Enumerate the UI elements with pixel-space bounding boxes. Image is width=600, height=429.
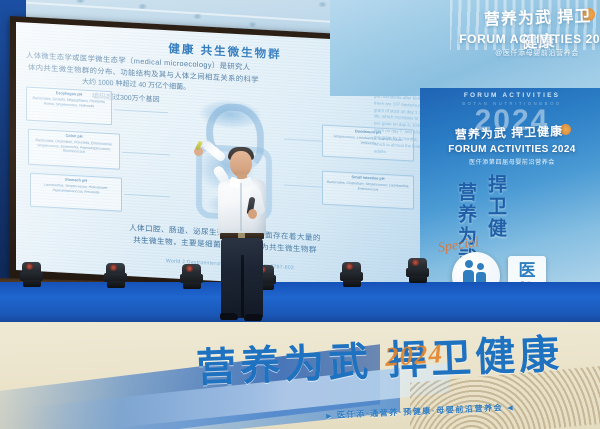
top-banner-english-title: FORUM ACTIVITIES 2024	[452, 32, 600, 46]
top-banner-subtitle: @医仟添母婴前沿营养会	[462, 48, 600, 58]
light-base	[23, 280, 41, 287]
right-banner-top-english: FORUM ACTIVITIES	[438, 92, 586, 99]
light-lens-icon	[26, 263, 33, 270]
speaker-presenter	[196, 143, 292, 321]
light-lens-icon	[346, 263, 353, 270]
light-base	[409, 276, 427, 283]
light-base	[343, 280, 361, 287]
moving-head-light	[340, 262, 364, 288]
moving-head-light	[104, 263, 128, 289]
moving-head-light	[406, 258, 430, 284]
logo-badge-char: 医	[519, 261, 536, 280]
arrow-right-icon: ◀	[507, 404, 514, 412]
logo-head-parent	[465, 260, 473, 268]
diagram-connector	[124, 194, 170, 197]
moving-head-light	[20, 262, 44, 288]
speaker-raised-arm	[201, 139, 227, 163]
diagram-connector	[284, 139, 322, 142]
speaker-shoe-left	[220, 313, 238, 320]
stage-floor	[0, 282, 600, 326]
arrow-left-icon: ▶	[326, 412, 333, 420]
diagram-connector	[122, 152, 170, 156]
right-banner-english-title: FORUM ACTIVITIES 2024	[434, 144, 590, 155]
downlight-icon	[318, 2, 327, 7]
light-lens-icon	[412, 259, 419, 266]
conference-stage-photo: 健康 共生微生物群 人体微生态学或医学微生态学（medical microeco…	[0, 0, 600, 429]
downlight-icon	[138, 4, 147, 9]
downlight-icon	[76, 0, 85, 3]
logo-head-child	[477, 263, 484, 270]
light-lens-icon	[186, 265, 193, 272]
speaker-mic-hand	[248, 209, 257, 219]
top-banner-chinese-title: 营养为武 捍卫健康	[477, 2, 599, 54]
top-banner: 营养为武 捍卫健康 FORUM ACTIVITIES 2024 @医仟添母婴前沿…	[330, 0, 600, 96]
bottom-banner-year: 2024	[384, 338, 444, 373]
downlight-icon	[248, 22, 257, 27]
diagram-box: Stomach pH Lactobacillus, Streptococcus,…	[30, 173, 122, 212]
right-banner-subtitle: 医仟添第四届母婴前沿营养会	[438, 157, 586, 166]
speaker-leg-separation	[241, 255, 244, 317]
light-base	[107, 281, 125, 288]
speaker-shirt-placket	[240, 183, 242, 231]
diagram-box: Colon pH Bacteroides, Clostridium, Prevo…	[28, 129, 120, 170]
speaker-shoe-right	[244, 314, 262, 321]
right-banner-chinese-title: 营养为武 捍卫健康	[448, 122, 571, 143]
light-lens-icon	[110, 264, 117, 271]
diagram-connector	[114, 109, 168, 113]
downlight-icon	[193, 14, 202, 19]
right-banner-vertical-right: 捍卫健	[482, 174, 509, 240]
bottom-stage-banner: 营养为武 捍卫健康 2024 ▶医仟添·通营养·预健康·母婴前沿营养会◀	[0, 322, 600, 429]
diagram-box: Esophagus pH Bacteroides, Gemella, Megas…	[26, 87, 112, 126]
diagram-box: Small intestine pH Bacteroides, Clostrid…	[322, 171, 414, 210]
